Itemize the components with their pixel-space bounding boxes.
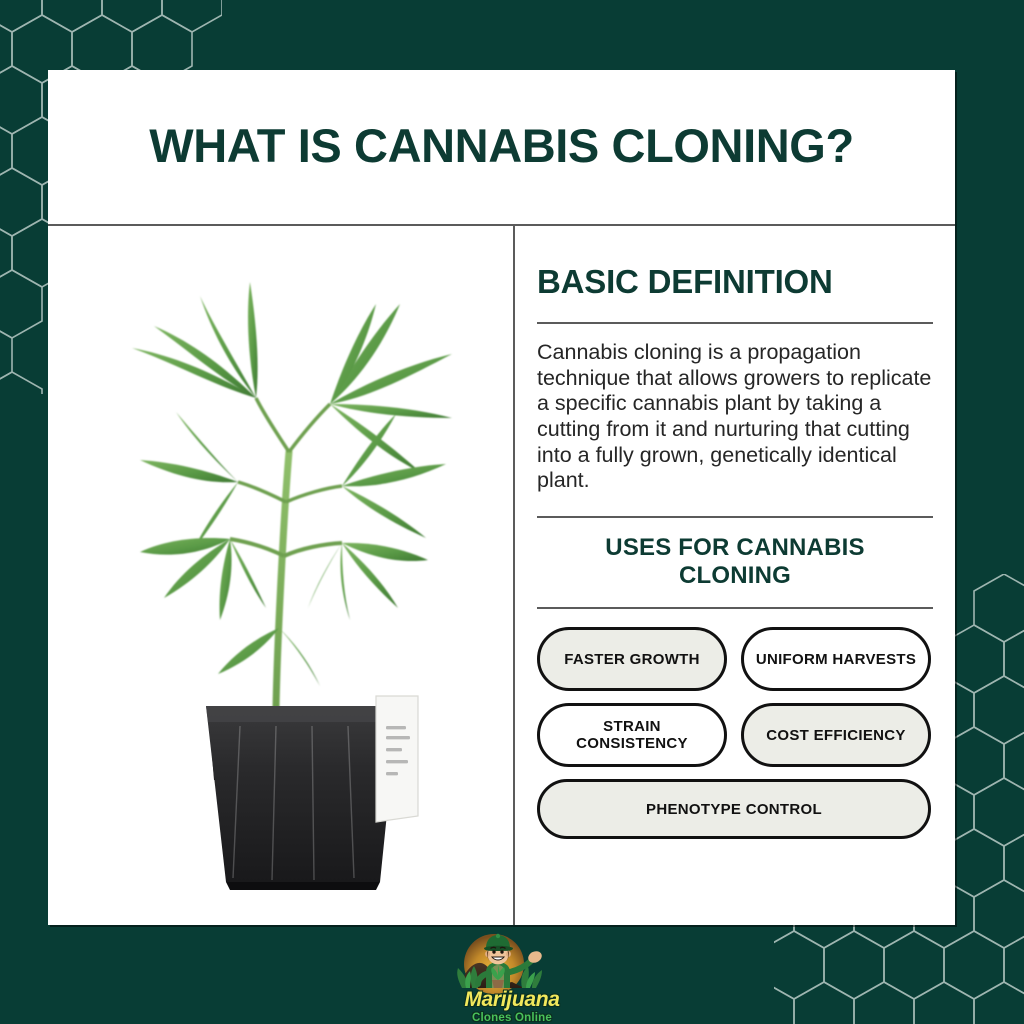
use-pill-uniform-harvests[interactable]: UNIFORM HARVESTS (741, 627, 931, 691)
infographic-poster: WHAT IS CANNABIS CLONING? (0, 0, 1024, 1024)
plant-tag (376, 696, 418, 822)
section-heading-basic-definition: BASIC DEFINITION (537, 226, 933, 300)
use-pill-cost-efficiency[interactable]: COST EFFICIENCY (741, 703, 931, 767)
content-card: WHAT IS CANNABIS CLONING? (48, 70, 955, 925)
logo-brand-name: Marijuana (412, 988, 612, 1012)
use-pill-phenotype-control[interactable]: PHENOTYPE CONTROL (537, 779, 931, 839)
use-pill-faster-growth[interactable]: FASTER GROWTH (537, 627, 727, 691)
page-title: WHAT IS CANNABIS CLONING? (149, 121, 854, 172)
logo-tagline: Clones Online (412, 1012, 612, 1024)
plant-photo-panel (48, 226, 512, 925)
brand-logo: Marijuana Clones Online (412, 926, 612, 1020)
content-columns: BASIC DEFINITION Cannabis cloning is a p… (48, 226, 955, 925)
definition-body: Cannabis cloning is a propagation techni… (537, 324, 933, 493)
title-block: WHAT IS CANNABIS CLONING? (48, 70, 955, 222)
use-pill-strain-consistency[interactable]: STRAIN CONSISTENCY (537, 703, 727, 767)
cannabis-clone-photo (80, 256, 480, 896)
definition-panel: BASIC DEFINITION Cannabis cloning is a p… (515, 226, 955, 925)
uses-pill-list: FASTER GROWTH UNIFORM HARVESTS STRAIN CO… (537, 609, 933, 839)
section-heading-uses: USES FOR CANNABIS CLONING (537, 518, 933, 591)
